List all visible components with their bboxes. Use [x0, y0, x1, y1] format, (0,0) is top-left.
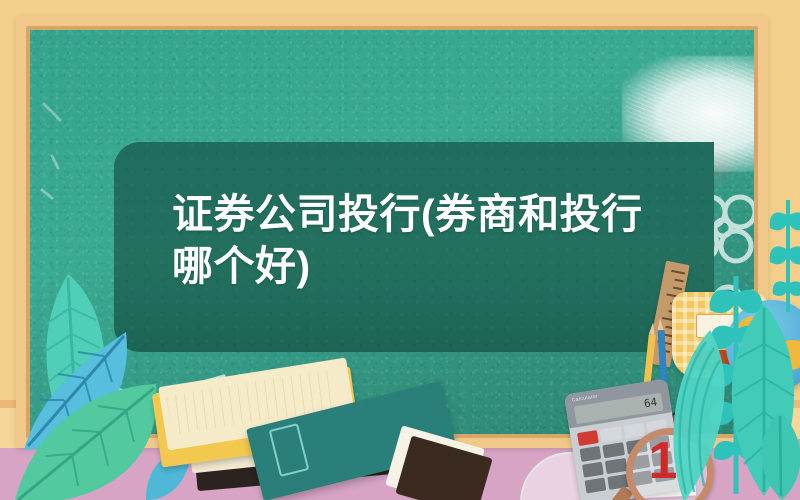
page-title: 证券公司投行(券商和投行 哪个好)	[172, 188, 692, 292]
calculator-key	[580, 446, 602, 462]
leaf-right-bottom	[740, 410, 800, 500]
chalk-marks	[38, 94, 98, 214]
leaf-right-flowing	[654, 328, 744, 500]
calculator-key	[605, 458, 627, 474]
calculator-key	[582, 462, 604, 478]
cover-stage: 证券公司投行(券商和投行 哪个好)	[0, 0, 800, 500]
calculator-key	[600, 426, 622, 442]
calculator-key	[577, 430, 599, 446]
page-title-line-1: 证券公司投行(券商和投行	[172, 188, 692, 240]
calculator-key	[585, 477, 607, 493]
calculator-key	[603, 442, 625, 458]
leaf-right-edge	[768, 196, 800, 316]
page-title-line-2: 哪个好)	[172, 240, 692, 292]
